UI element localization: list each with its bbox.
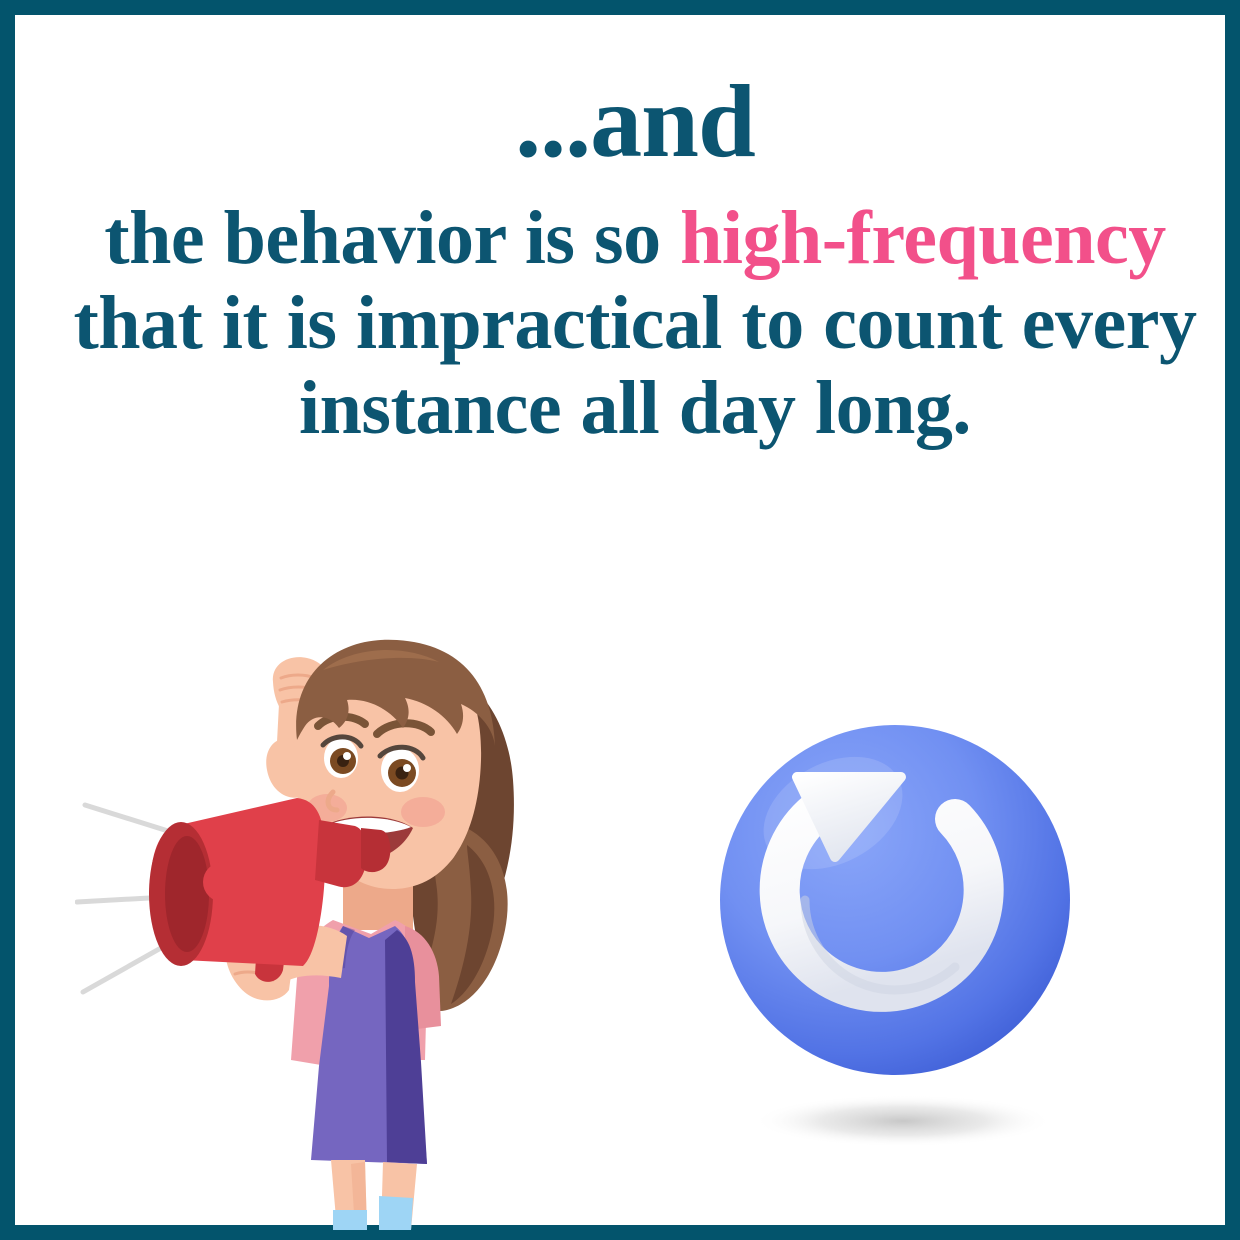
megaphone-neck xyxy=(315,820,367,887)
cheek-right xyxy=(401,797,445,827)
button-drop-shadow xyxy=(753,1095,1053,1147)
megaphone-mouth-inner xyxy=(165,836,209,952)
sock-right xyxy=(379,1196,413,1230)
page-title: ...and xyxy=(30,70,1240,174)
girl-with-megaphone-illustration xyxy=(75,630,545,1230)
megaphone-tip xyxy=(361,828,390,872)
body-paragraph: the behavior is so high-frequency that i… xyxy=(30,196,1240,451)
eye-right xyxy=(381,748,419,792)
eye-left xyxy=(324,738,358,778)
body-segment-2: that it is impractical to count every in… xyxy=(73,281,1196,450)
text-block: ...and the behavior is so high-frequency… xyxy=(30,70,1240,451)
sock-left xyxy=(333,1210,367,1230)
highlight-high-frequency: high-frequency xyxy=(680,196,1166,280)
refresh-button[interactable] xyxy=(655,685,1135,1165)
megaphone-dot xyxy=(203,862,243,902)
slide-canvas: ...and the behavior is so high-frequency… xyxy=(0,0,1240,1240)
body-segment-1: the behavior is so xyxy=(104,196,680,280)
